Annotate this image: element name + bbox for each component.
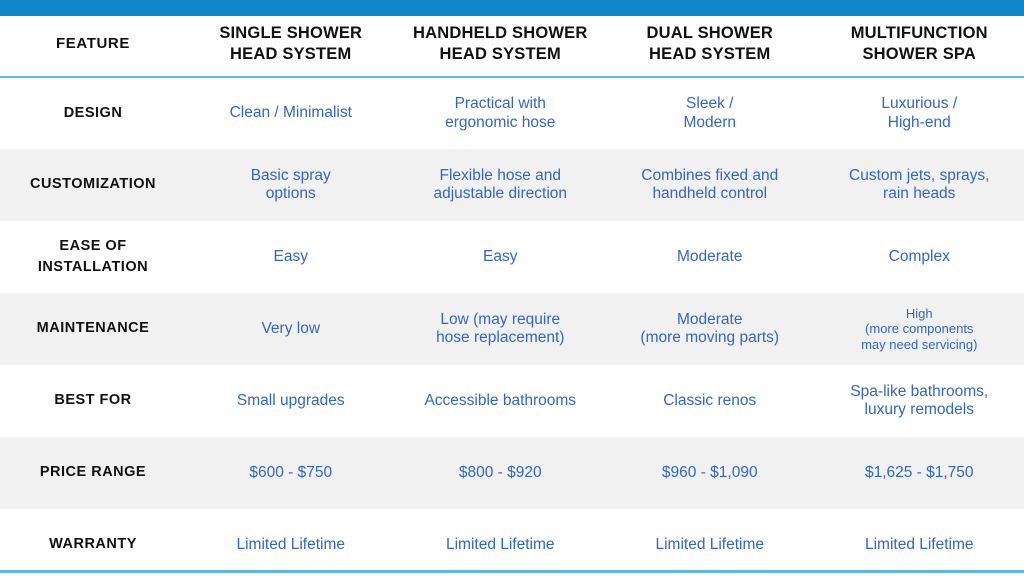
cell-handheld: Low (may requirehose replacement) (396, 293, 606, 365)
cell-text-line: Easy (404, 248, 598, 266)
cell-single: Small upgrades (186, 365, 396, 437)
column-header-line: SINGLE SHOWER (196, 23, 386, 44)
row-feature-label-line: PRICE RANGE (8, 462, 178, 483)
table-row: PRICE RANGE$600 - $750$800 - $920$960 - … (0, 437, 1024, 509)
cell-text-line: Low (may require (404, 311, 598, 329)
column-header-line: FEATURE (10, 34, 176, 53)
cell-handheld: Practical withergonomic hose (396, 77, 606, 149)
cell-text-line: (more components (823, 321, 1017, 336)
cell-text-line: High-end (823, 114, 1017, 132)
cell-text-line: Classic renos (613, 392, 807, 410)
cell-text-line: Practical with (404, 95, 598, 113)
cell-text-line: handheld control (613, 185, 807, 203)
cell-text-line: adjustable direction (404, 185, 598, 203)
header-row: FEATURESINGLE SHOWERHEAD SYSTEMHANDHELD … (0, 16, 1024, 77)
cell-text-line: $600 - $750 (194, 464, 388, 482)
cell-dual: Classic renos (605, 365, 815, 437)
table-row: CUSTOMIZATIONBasic sprayoptionsFlexible … (0, 149, 1024, 221)
cell-text-line: Limited Lifetime (404, 536, 598, 554)
cell-text-line: Complex (823, 248, 1017, 266)
cell-handheld: Accessible bathrooms (396, 365, 606, 437)
column-header-line: SHOWER SPA (825, 44, 1015, 65)
column-header-line: MULTIFUNCTION (825, 23, 1015, 44)
table-row: BEST FORSmall upgradesAccessible bathroo… (0, 365, 1024, 437)
cell-text-line: $1,625 - $1,750 (823, 464, 1017, 482)
top-accent-bar (0, 0, 1024, 16)
cell-text-line: may need servicing) (823, 337, 1017, 352)
cell-text-line: Moderate (613, 311, 807, 329)
table-row: EASE OFINSTALLATIONEasyEasyModerateCompl… (0, 221, 1024, 293)
cell-text-line: Spa-like bathrooms, (823, 383, 1017, 401)
cell-dual: Sleek /Modern (605, 77, 815, 149)
cell-text-line: Accessible bathrooms (404, 392, 598, 410)
column-header-line: HEAD SYSTEM (615, 44, 805, 65)
row-feature-label-line: EASE OF (8, 236, 178, 257)
column-header-handheld: HANDHELD SHOWERHEAD SYSTEM (396, 16, 606, 77)
cell-single: Clean / Minimalist (186, 77, 396, 149)
column-header-feature: FEATURE (0, 16, 186, 77)
cell-text-line: High (823, 306, 1017, 321)
row-feature-label-line: BEST FOR (8, 390, 178, 411)
cell-multifunction: $1,625 - $1,750 (815, 437, 1024, 509)
cell-text-line: Sleek / (613, 95, 807, 113)
table-header: FEATURESINGLE SHOWERHEAD SYSTEMHANDHELD … (0, 16, 1024, 77)
row-feature-label-line: MAINTENANCE (8, 318, 178, 339)
row-feature-label-line: WARRANTY (8, 534, 178, 555)
row-feature-label: MAINTENANCE (0, 293, 186, 365)
cell-text-line: rain heads (823, 185, 1017, 203)
cell-dual: Combines fixed andhandheld control (605, 149, 815, 221)
row-feature-label: EASE OFINSTALLATION (0, 221, 186, 293)
cell-text-line: Small upgrades (194, 392, 388, 410)
row-feature-label-line: DESIGN (8, 103, 178, 124)
cell-multifunction: Custom jets, sprays,rain heads (815, 149, 1024, 221)
column-header-line: HANDHELD SHOWER (406, 23, 596, 44)
cell-text-line: Custom jets, sprays, (823, 167, 1017, 185)
comparison-page: FEATURESINGLE SHOWERHEAD SYSTEMHANDHELD … (0, 0, 1024, 576)
column-header-multifunction: MULTIFUNCTIONSHOWER SPA (815, 16, 1024, 77)
cell-text-line: Limited Lifetime (823, 536, 1017, 554)
cell-text-line: ergonomic hose (404, 114, 598, 132)
column-header-single: SINGLE SHOWERHEAD SYSTEM (186, 16, 396, 77)
cell-text-line: Limited Lifetime (613, 536, 807, 554)
cell-multifunction: Luxurious /High-end (815, 77, 1024, 149)
cell-text-line: hose replacement) (404, 329, 598, 347)
comparison-table: FEATURESINGLE SHOWERHEAD SYSTEMHANDHELD … (0, 16, 1024, 581)
table-row: DESIGNClean / MinimalistPractical wither… (0, 77, 1024, 149)
row-feature-label-line: CUSTOMIZATION (8, 174, 178, 195)
cell-multifunction: Spa-like bathrooms,luxury remodels (815, 365, 1024, 437)
cell-dual: Moderate (605, 221, 815, 293)
table-body: DESIGNClean / MinimalistPractical wither… (0, 77, 1024, 581)
cell-text-line: Very low (194, 320, 388, 338)
column-header-line: DUAL SHOWER (615, 23, 805, 44)
cell-single: Basic sprayoptions (186, 149, 396, 221)
row-feature-label: PRICE RANGE (0, 437, 186, 509)
cell-text-line: options (194, 185, 388, 203)
cell-single: $600 - $750 (186, 437, 396, 509)
row-feature-label: CUSTOMIZATION (0, 149, 186, 221)
cell-text-line: Modern (613, 114, 807, 132)
cell-text-line: Easy (194, 248, 388, 266)
cell-text-line: Limited Lifetime (194, 536, 388, 554)
cell-text-line: Basic spray (194, 167, 388, 185)
bottom-accent-line (0, 570, 1024, 573)
cell-text-line: Flexible hose and (404, 167, 598, 185)
cell-text-line: Luxurious / (823, 95, 1017, 113)
table-row: MAINTENANCEVery lowLow (may requirehose … (0, 293, 1024, 365)
column-header-line: HEAD SYSTEM (196, 44, 386, 65)
column-header-dual: DUAL SHOWERHEAD SYSTEM (605, 16, 815, 77)
column-header-line: HEAD SYSTEM (406, 44, 596, 65)
cell-handheld: $800 - $920 (396, 437, 606, 509)
cell-handheld: Easy (396, 221, 606, 293)
cell-single: Very low (186, 293, 396, 365)
cell-text-line: (more moving parts) (613, 329, 807, 347)
cell-text-line: $960 - $1,090 (613, 464, 807, 482)
cell-text-line: luxury remodels (823, 401, 1017, 419)
cell-dual: Moderate(more moving parts) (605, 293, 815, 365)
cell-text-line: Clean / Minimalist (194, 104, 388, 122)
cell-text-line: Moderate (613, 248, 807, 266)
cell-multifunction: Complex (815, 221, 1024, 293)
row-feature-label: BEST FOR (0, 365, 186, 437)
cell-single: Easy (186, 221, 396, 293)
cell-handheld: Flexible hose andadjustable direction (396, 149, 606, 221)
cell-text-line: Combines fixed and (613, 167, 807, 185)
cell-dual: $960 - $1,090 (605, 437, 815, 509)
row-feature-label-line: INSTALLATION (8, 257, 178, 278)
cell-text-line: $800 - $920 (404, 464, 598, 482)
row-feature-label: DESIGN (0, 77, 186, 149)
cell-multifunction: High(more componentsmay need servicing) (815, 293, 1024, 365)
